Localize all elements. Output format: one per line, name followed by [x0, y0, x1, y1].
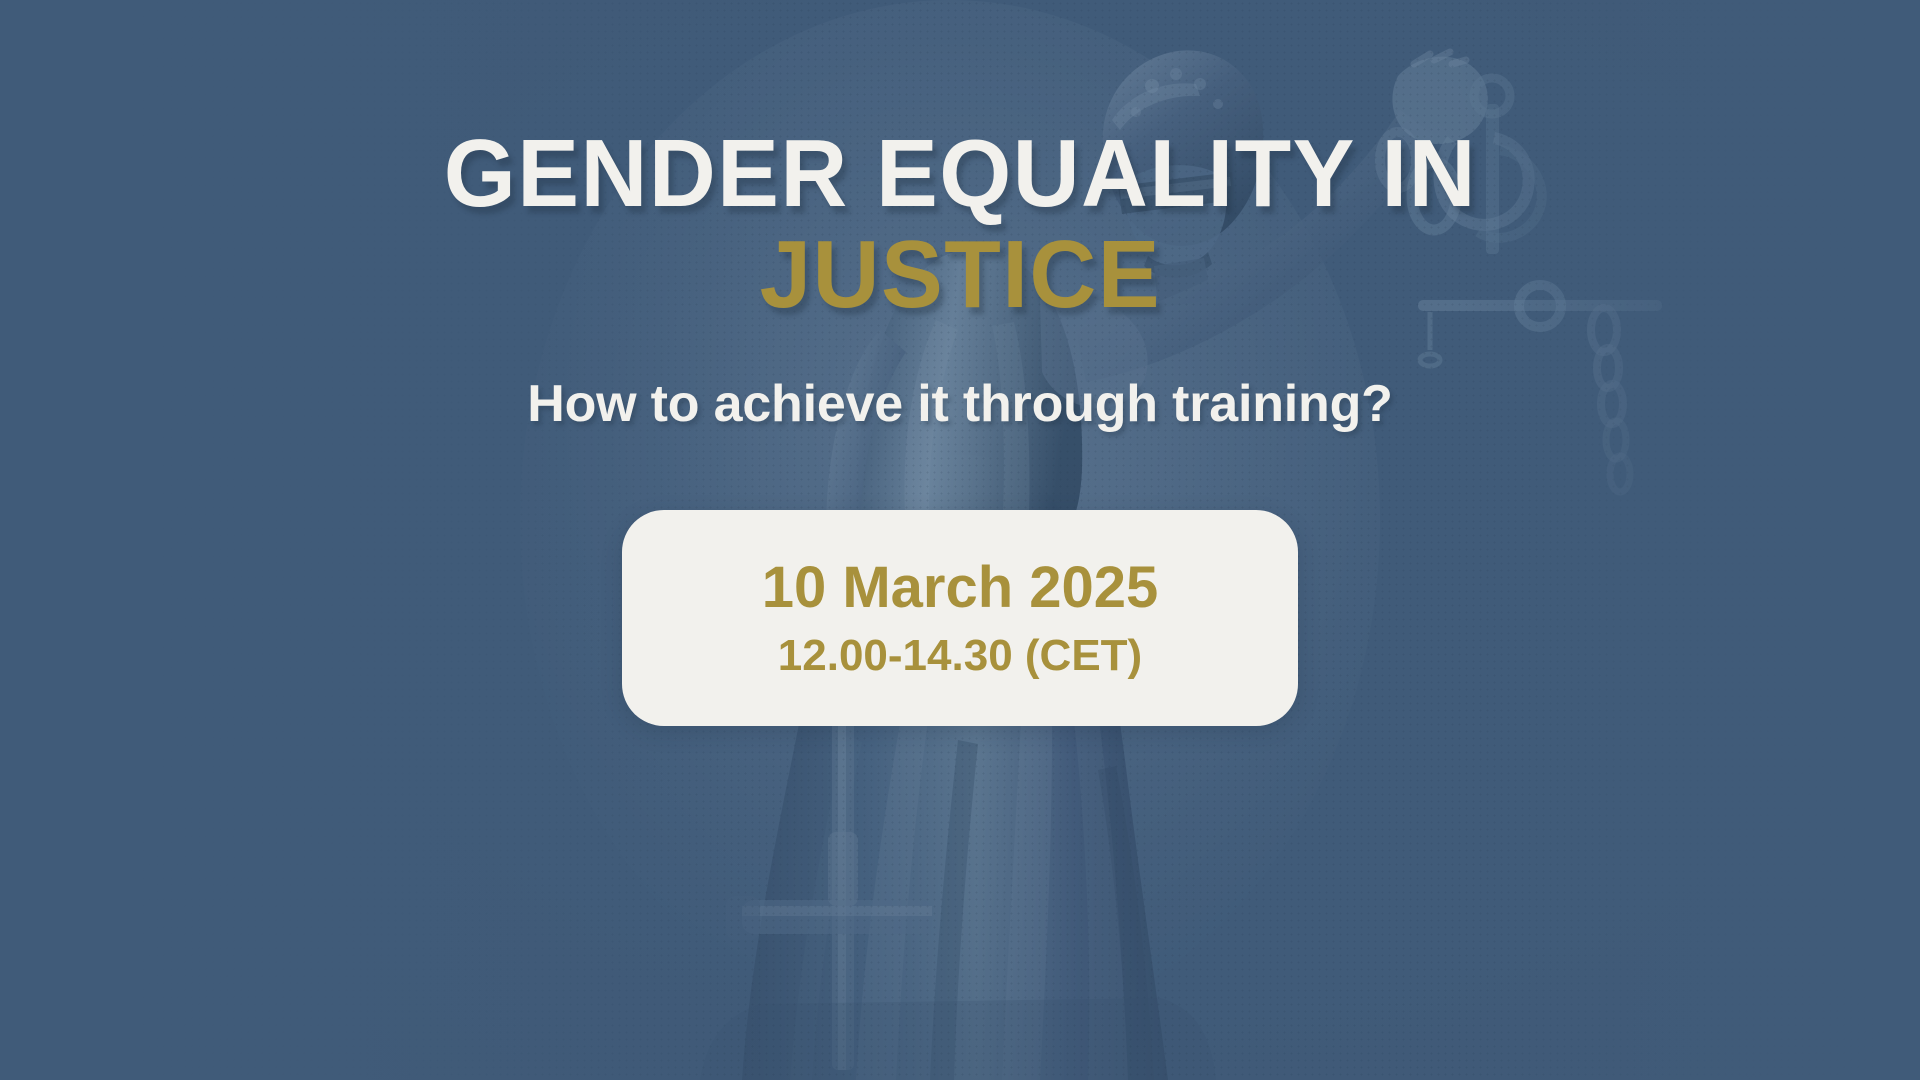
banner-content: GENDER EQUALITY IN JUSTICE How to achiev…	[0, 0, 1920, 1080]
event-banner: GENDER EQUALITY IN JUSTICE How to achiev…	[0, 0, 1920, 1080]
event-date: 10 March 2025	[762, 558, 1159, 619]
event-date-card: 10 March 2025 12.00-14.30 (CET)	[622, 510, 1298, 726]
headline-line-2-justice: JUSTICE	[443, 229, 1476, 320]
headline-block: GENDER EQUALITY IN JUSTICE	[425, 128, 1496, 320]
banner-subtitle: How to achieve it through training?	[527, 374, 1392, 434]
event-time: 12.00-14.30 (CET)	[778, 633, 1142, 679]
headline-line-1: GENDER EQUALITY IN	[443, 128, 1476, 219]
